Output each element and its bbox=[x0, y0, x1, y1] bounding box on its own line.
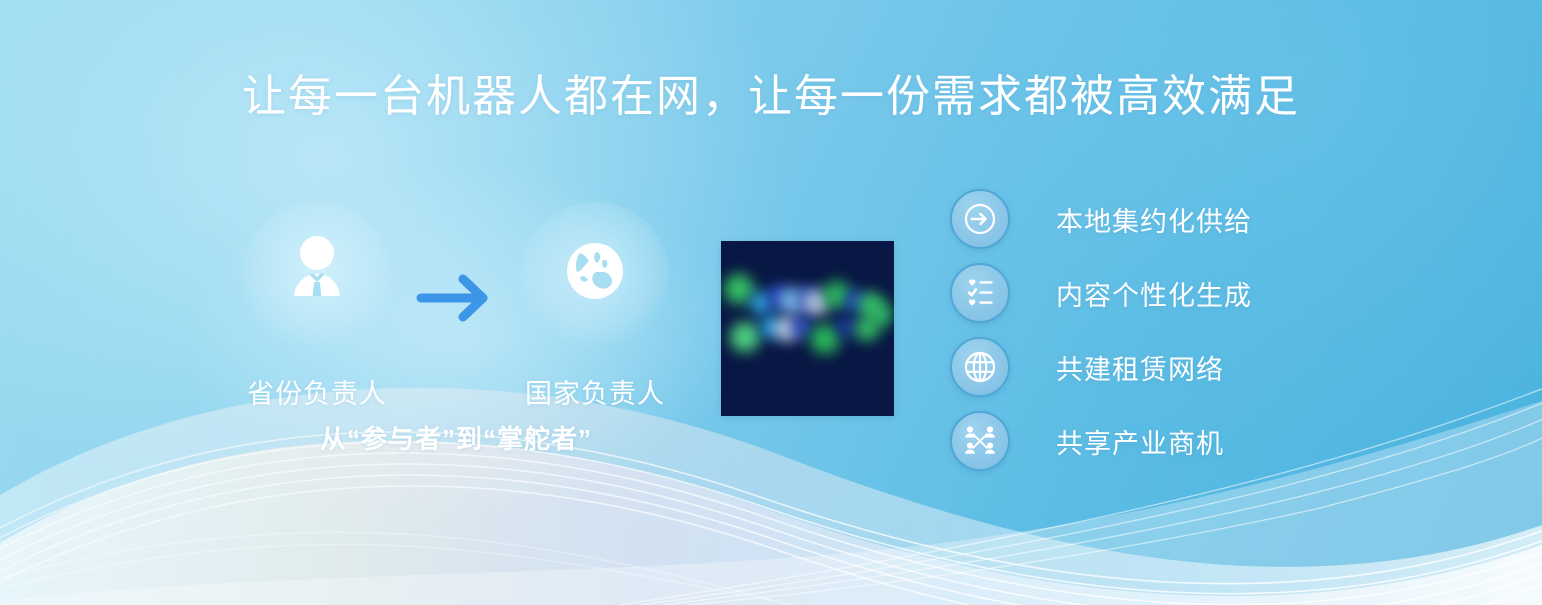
feature-item-personalized-content[interactable]: 内容个性化生成 bbox=[950, 256, 1410, 330]
feature-label: 本地集约化供给 bbox=[1056, 200, 1252, 239]
feature-item-shared-business[interactable]: 共享产业商机 bbox=[950, 404, 1410, 478]
feature-item-local-supply[interactable]: 本地集约化供给 bbox=[950, 182, 1410, 256]
flow-node-label: 国家负责人 bbox=[510, 372, 680, 411]
feature-label: 共建租赁网络 bbox=[1056, 348, 1224, 387]
feature-label: 内容个性化生成 bbox=[1056, 274, 1252, 313]
people-network-icon bbox=[950, 411, 1010, 471]
business-person-icon bbox=[232, 196, 402, 346]
feature-list: 本地集约化供给 内容个性化生成 bbox=[950, 182, 1410, 478]
arrow-in-circle-icon bbox=[950, 189, 1010, 249]
flow-node-label: 省份负责人 bbox=[232, 372, 402, 411]
flow-node-province: 省份负责人 bbox=[232, 196, 402, 411]
slide-root: 让每一台机器人都在网，让每一份需求都被高效满足 省份负责人 bbox=[0, 0, 1542, 605]
bokeh-light bbox=[790, 316, 812, 338]
checklist-icon bbox=[950, 263, 1010, 323]
globe-earth-icon bbox=[510, 196, 680, 346]
page-title: 让每一台机器人都在网，让每一份需求都被高效满足 bbox=[0, 60, 1542, 124]
flow-caption: 从“参与者”到“掌舵者” bbox=[232, 419, 680, 456]
bokeh-light bbox=[730, 322, 760, 352]
flow-node-country: 国家负责人 bbox=[510, 196, 680, 411]
feature-label: 共享产业商机 bbox=[1056, 422, 1224, 461]
feature-item-rental-network[interactable]: 共建租赁网络 bbox=[950, 330, 1410, 404]
flow-diagram: 省份负责人 bbox=[232, 196, 680, 461]
globe-grid-icon bbox=[950, 337, 1010, 397]
bokeh-light bbox=[855, 317, 879, 341]
arrow-right-icon bbox=[413, 271, 501, 325]
bokeh-lights-image bbox=[721, 241, 894, 416]
